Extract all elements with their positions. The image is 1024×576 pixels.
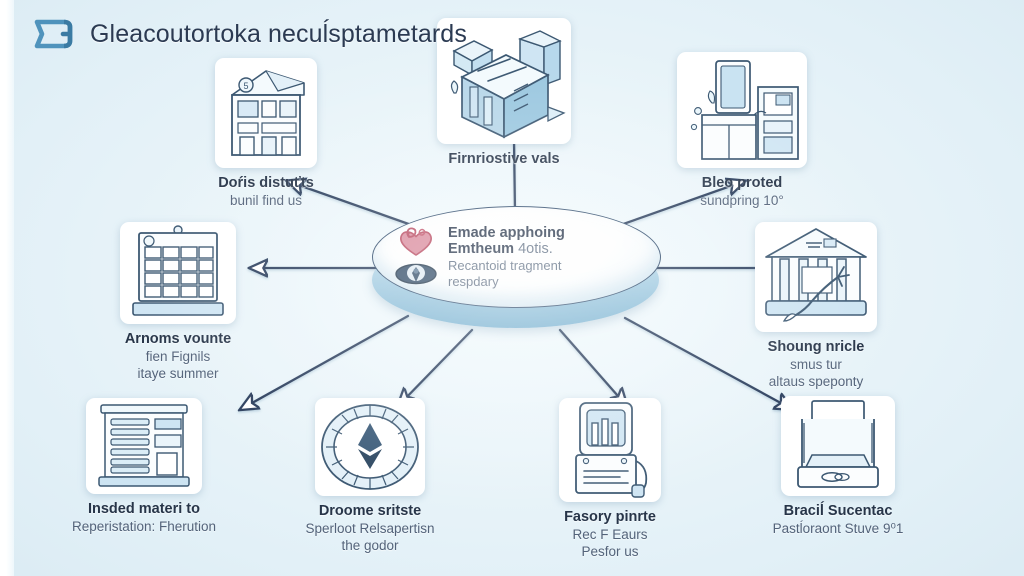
hub-line-4: respdary: [448, 274, 565, 290]
node-top-left[interactable]: 5 Doŕis distuťts bunil find us: [166, 58, 366, 210]
node-label-primary: Firnriostive vals: [448, 151, 559, 169]
node-label-secondary: bunil find us: [218, 193, 314, 210]
node-label-primary: Shoung nricle: [768, 339, 865, 357]
classical-bank-icon: [755, 222, 877, 332]
header: Gleacoutortoka necuĺsptametards: [30, 14, 467, 54]
node-label-primary: Arnoms vounte: [125, 331, 231, 349]
hub-line-1: Emade apphoing: [448, 225, 565, 242]
node-label-secondary: smus tur: [768, 357, 865, 374]
node-label-secondary: fien Fignils: [125, 349, 231, 366]
node-label-tertiary: altaus speponty: [768, 374, 865, 391]
document-list-icon: [86, 398, 202, 494]
node-label-tertiary: the godor: [305, 538, 434, 555]
node-label-secondary: sundpring 10°: [700, 193, 783, 210]
vanity-mirror-icon: [677, 52, 807, 168]
node-bottom-right[interactable]: Braciĺ Sucentac Pastĺoraont Stuve 9⁰1: [738, 396, 938, 538]
node-label-tertiary: Pesfor us: [564, 544, 656, 561]
hub-line-2-bold: Emtheum: [448, 241, 514, 257]
node-top-right[interactable]: Bleo proted sundpring 10°: [642, 52, 842, 210]
node-bottom-left[interactable]: Insded materi to Reperistation: Fherutio…: [44, 398, 244, 536]
connector-bottom-center-right: [560, 330, 625, 404]
diagram-canvas: Gleacoutortoka necuĺsptametards E: [0, 0, 1024, 576]
node-bottom-center-left[interactable]: Droome sritste Sperloot Relsapertisn the…: [270, 398, 470, 554]
node-label-tertiary: itaye summer: [125, 366, 231, 383]
page-title: Gleacoutortoka necuĺsptametards: [90, 20, 467, 49]
node-label-primary: Bleo proted: [700, 175, 783, 193]
svg-text:5: 5: [243, 81, 248, 91]
hub-line-3: Recantoid tragment: [448, 258, 565, 274]
coin-ethereum-icon: [315, 398, 425, 496]
connector-bottom-center-left: [400, 330, 472, 404]
node-bottom-center-right[interactable]: Fasory pinrte Rec F Eaurs Pesfor us: [510, 398, 710, 560]
heart-swirl-icon: [396, 224, 436, 258]
hub-text-block: Emade apphoing Emtheum 4otis. Recantoid …: [448, 223, 565, 289]
node-label-primary: Braciĺ Sucentac: [773, 503, 904, 521]
speech-bubble-logo-icon: [30, 14, 76, 54]
hub-line-2-dim: 4otis.: [514, 241, 553, 257]
node-label-primary: Doŕis distuťts: [218, 175, 314, 193]
node-label-secondary: Rec F Eaurs: [564, 527, 656, 544]
navy-oval-eye-icon: [394, 260, 438, 288]
printer-scanner-icon: [781, 396, 895, 496]
storefront-building-icon: 5: [215, 58, 317, 168]
node-label-secondary: Reperistation: Fherution: [72, 519, 216, 536]
node-label-secondary: Sperloot Relsapertisn: [305, 521, 434, 538]
node-label-secondary: Pastĺoraont Stuve 9⁰1: [773, 521, 904, 538]
center-hub[interactable]: Emade apphoing Emtheum 4otis. Recantoid …: [368, 206, 663, 328]
hub-icon-group: [394, 224, 438, 288]
node-mid-right[interactable]: Shoung nricle smus tur altaus speponty: [716, 222, 916, 390]
node-label-primary: Insded materi to: [72, 501, 216, 519]
fuel-pump-meter-icon: [559, 398, 661, 502]
node-label-primary: Fasory pinrte: [564, 509, 656, 527]
node-mid-left[interactable]: Arnoms vounte fien Fignils itaye summer: [78, 222, 278, 382]
node-label-primary: Droome sritste: [305, 503, 434, 521]
hub-line-2: Emtheum 4otis.: [448, 241, 565, 258]
calendar-grid-icon: [120, 222, 236, 324]
